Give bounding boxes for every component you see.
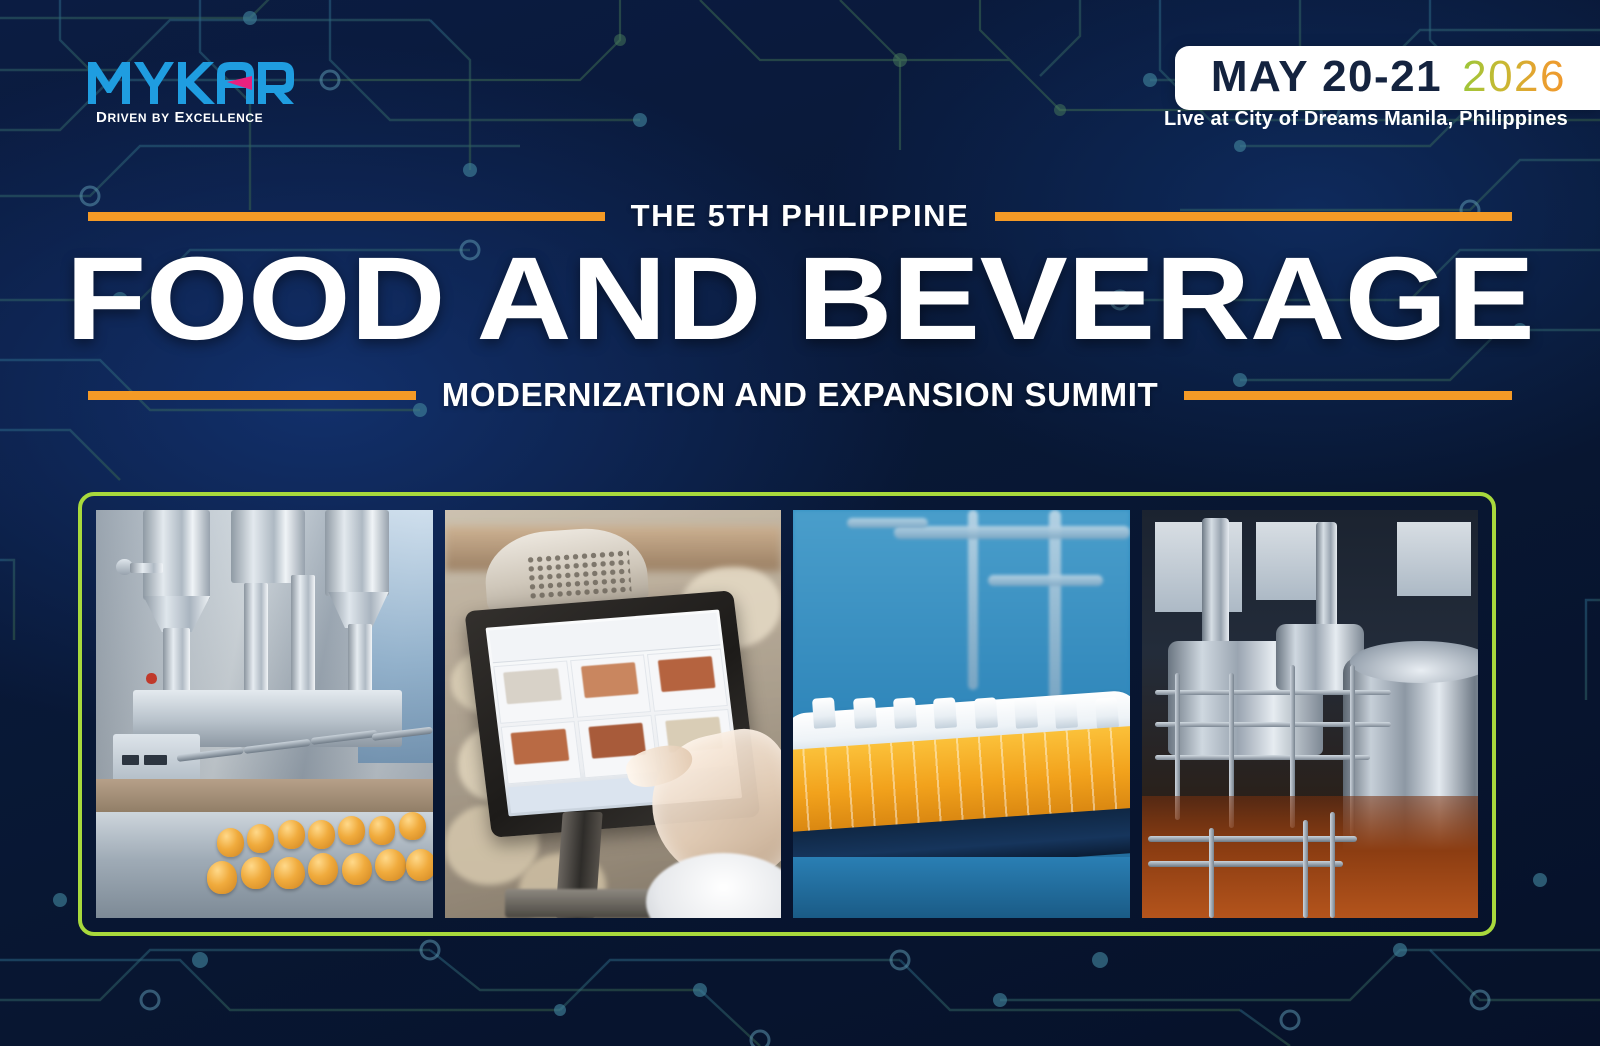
hopper-1: [143, 510, 210, 600]
handrail: [1155, 755, 1370, 760]
vent-chimney: [1316, 522, 1336, 636]
floor-pipe-riser: [1330, 812, 1335, 918]
bun: [278, 820, 305, 849]
photo-juice-bottling-line: Capped orange juice bottles moving along…: [793, 510, 1130, 918]
handrail: [1155, 690, 1391, 695]
factory-wall: [793, 510, 1130, 722]
mykar-logo: DRIVEN BY EXCELLENCE MYKAR Driven by Exc…: [86, 52, 316, 130]
white-plate: [646, 853, 781, 918]
title-block: THE 5TH PHILIPPINE FOOD AND BEVERAGE MOD…: [0, 198, 1600, 414]
product-tile[interactable]: [647, 648, 728, 711]
floor-pipe-riser: [1209, 828, 1214, 918]
product-tile[interactable]: [493, 661, 574, 724]
bun: [406, 849, 433, 882]
bun: [247, 824, 274, 853]
photo-strip: Stainless steel food depositor filling l…: [78, 492, 1496, 936]
floor-pipe: [1148, 836, 1357, 842]
bun: [308, 853, 338, 886]
red-indicator: [146, 673, 156, 684]
bun: [369, 816, 396, 845]
logo-tagline-text: DRIVEN BY EXCELLENCE: [96, 109, 263, 126]
eyebrow-row: THE 5TH PHILIPPINE: [0, 198, 1600, 234]
event-banner: DRIVEN BY EXCELLENCE MYKAR Driven by Exc…: [0, 0, 1600, 1046]
valve-pipe: [130, 563, 164, 573]
transfer-belt: [96, 779, 433, 816]
rule-left-top: [88, 212, 605, 221]
floor-pipe: [1148, 861, 1343, 867]
plant-window: [1397, 522, 1471, 595]
bun: [274, 857, 304, 890]
pipe-2: [244, 583, 268, 693]
mykar-logo-mark: DRIVEN BY EXCELLENCE: [86, 52, 316, 130]
product-tile[interactable]: [501, 721, 582, 784]
date-badge: MAY 20-21 2026: [1175, 46, 1600, 110]
overhead-pipe: [894, 526, 1130, 538]
rule-right-top: [995, 212, 1512, 221]
venue-text: Live at City of Dreams Manila, Philippin…: [1164, 108, 1568, 131]
overhead-pipe: [988, 575, 1102, 586]
photo-food-depositor-machine: Stainless steel food depositor filling l…: [96, 510, 433, 918]
bun: [217, 828, 244, 857]
bun: [375, 849, 405, 882]
bun: [241, 857, 271, 890]
plant-window: [1155, 522, 1242, 612]
bun: [207, 861, 237, 894]
pipe-3: [291, 575, 315, 693]
rule-left-bottom: [88, 391, 416, 400]
pipe-1: [163, 628, 190, 693]
cone-1: [143, 596, 210, 633]
main-title: FOOD AND BEVERAGE: [0, 240, 1600, 358]
banner-header: DRIVEN BY EXCELLENCE MYKAR Driven by Exc…: [0, 0, 1600, 180]
product-tile[interactable]: [570, 654, 651, 717]
overhead-pipe: [1049, 510, 1061, 706]
bun: [338, 816, 365, 845]
conveyor-frame: [793, 857, 1130, 918]
sub-title: MODERNIZATION AND EXPANSION SUMMIT: [442, 376, 1158, 414]
hopper-3: [325, 510, 389, 596]
hopper-2: [231, 510, 305, 583]
event-year: 2026: [1462, 55, 1566, 99]
eyebrow-title: THE 5TH PHILIPPINE: [631, 198, 970, 234]
floor-pipe-riser: [1303, 820, 1308, 918]
bun: [399, 812, 426, 841]
event-date: MAY 20-21: [1211, 55, 1442, 99]
photo-brewery-process-tanks: Stainless steel brewing and processing t…: [1142, 510, 1479, 918]
plant-floor: [1142, 796, 1479, 918]
rule-right-bottom: [1184, 391, 1512, 400]
pipe-4: [348, 624, 372, 693]
overhead-pipe: [847, 518, 928, 528]
photo-pos-touchscreen-kiosk: Gloved hand operating a touchscreen POS …: [445, 510, 782, 918]
handrail: [1155, 722, 1391, 727]
bun: [308, 820, 335, 849]
bun: [342, 853, 372, 886]
subline-row: MODERNIZATION AND EXPANSION SUMMIT: [0, 376, 1600, 414]
